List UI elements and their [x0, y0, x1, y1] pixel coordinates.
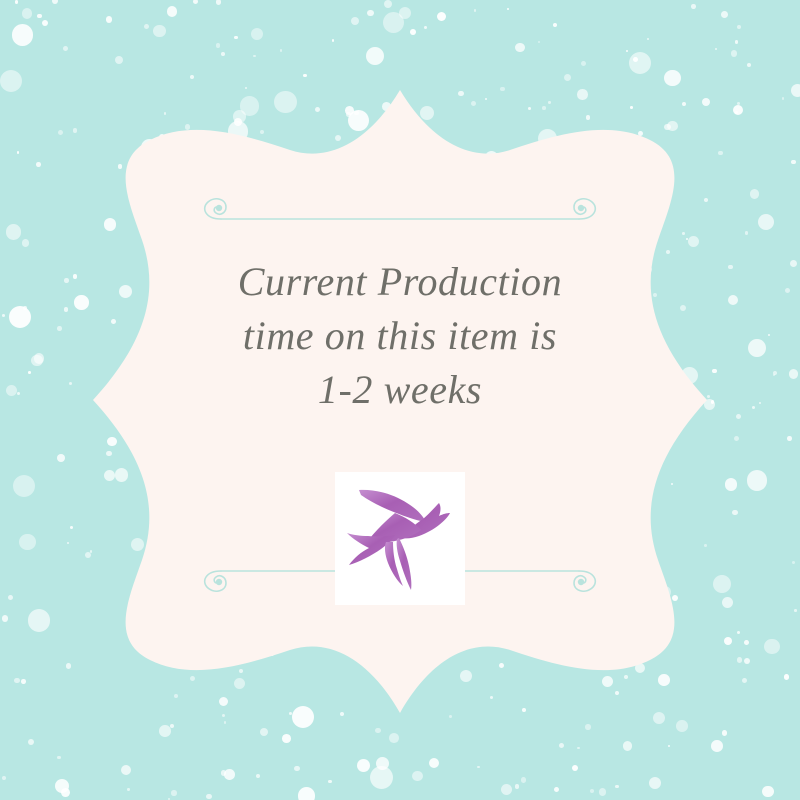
swallow-icon: [335, 472, 465, 605]
scroll-divider-top-svg: [195, 190, 605, 230]
headline-line-1: Current Production: [120, 255, 680, 309]
headline-line-2: time on this item is: [120, 309, 680, 363]
headline-block: Current Production time on this item is …: [120, 255, 680, 417]
headline-line-3: 1-2 weeks: [120, 363, 680, 417]
watercolor-swallow-image: [335, 472, 465, 605]
production-time-card: Current Production time on this item is …: [0, 0, 800, 800]
scroll-divider-top: [195, 190, 605, 230]
card-content: Current Production time on this item is …: [120, 120, 680, 680]
